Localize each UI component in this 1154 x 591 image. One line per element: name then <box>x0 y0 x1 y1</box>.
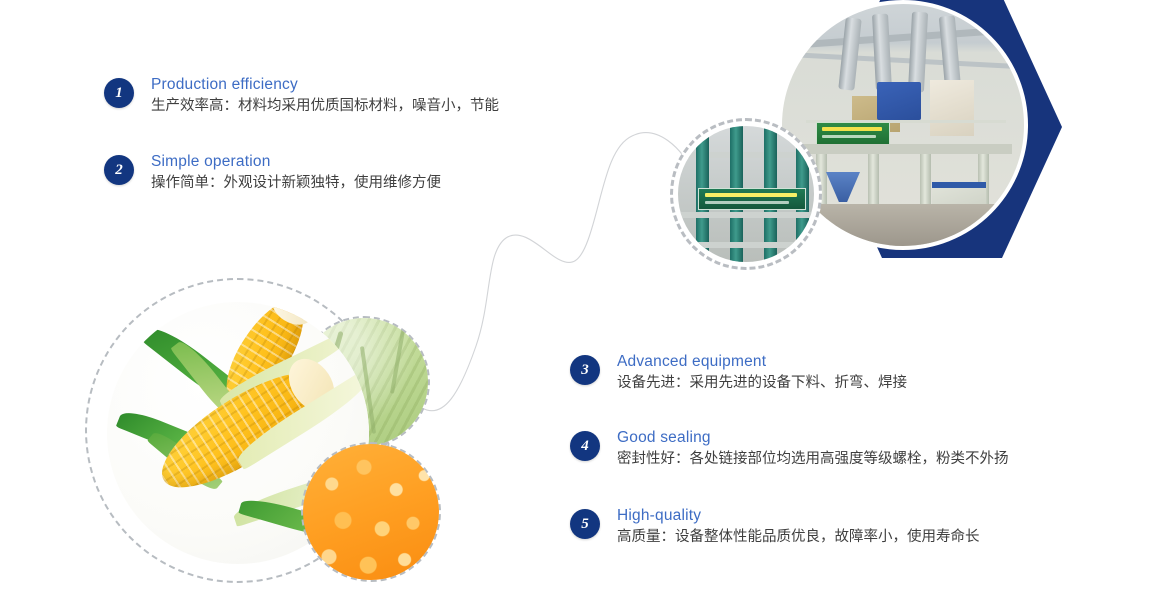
feature-title-en-2: Simple operation <box>151 152 441 171</box>
feature-item-3[interactable]: 3 Advanced equipment 设备先进：采用先进的设备下料、折弯、焊… <box>570 355 907 394</box>
feature-item-4[interactable]: 4 Good sealing 密封性好：各处链接部位均选用高强度等级螺栓，粉类不… <box>570 431 1009 470</box>
feature-title-en-4: Good sealing <box>617 428 1009 447</box>
feature-badge-3: 3 <box>570 355 600 385</box>
feature-badge-2: 2 <box>104 155 134 185</box>
feature-badge-1: 1 <box>104 78 134 108</box>
factory-small-photo <box>670 118 822 270</box>
feature-title-en-5: High-quality <box>617 506 980 525</box>
corn-image-group <box>85 278 505 591</box>
feature-infographic: 1 Production efficiency 生产效率高：材料均采用优质国标材… <box>0 0 1154 591</box>
factory-image-group <box>670 0 1154 278</box>
feature-item-2[interactable]: 2 Simple operation 操作简单：外观设计新颖独特，使用维修方便 <box>104 155 441 194</box>
feature-title-en-1: Production efficiency <box>151 75 499 94</box>
feature-title-en-3: Advanced equipment <box>617 352 907 371</box>
feature-badge-4: 4 <box>570 431 600 461</box>
feature-badge-5: 5 <box>570 509 600 539</box>
feature-title-cn-3: 设备先进：采用先进的设备下料、折弯、焊接 <box>617 372 907 394</box>
feature-item-1[interactable]: 1 Production efficiency 生产效率高：材料均采用优质国标材… <box>104 78 499 117</box>
feature-title-cn-2: 操作简单：外观设计新颖独特，使用维修方便 <box>151 172 441 194</box>
corn-grits-photo <box>301 442 441 582</box>
feature-title-cn-1: 生产效率高：材料均采用优质国标材料，噪音小，节能 <box>151 95 499 117</box>
feature-item-5[interactable]: 5 High-quality 高质量：设备整体性能品质优良，故障率小，使用寿命长 <box>570 509 980 548</box>
feature-title-cn-4: 密封性好：各处链接部位均选用高强度等级螺栓，粉类不外扬 <box>617 448 1009 470</box>
feature-title-cn-5: 高质量：设备整体性能品质优良，故障率小，使用寿命长 <box>617 526 980 548</box>
